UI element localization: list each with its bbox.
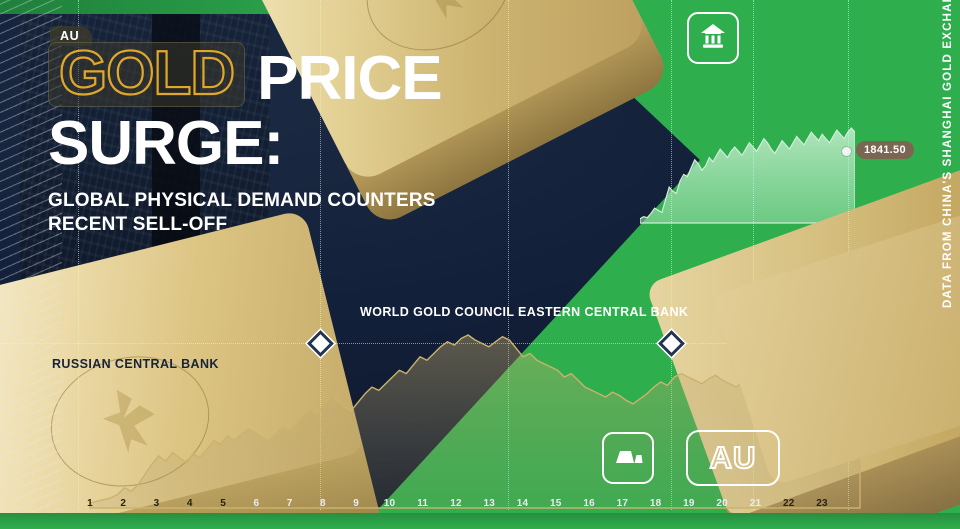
- x-axis-tick: 23: [816, 498, 828, 509]
- x-axis-tick: 10: [384, 498, 396, 509]
- x-axis-tick: 22: [783, 498, 795, 509]
- x-axis-tick: 3: [154, 498, 160, 509]
- headline-word-surge: SURGE:: [48, 113, 442, 175]
- x-axis-tick: 18: [650, 498, 662, 509]
- price-value-label: 1841.50: [856, 141, 914, 159]
- au-badge-label: AU: [710, 440, 757, 476]
- gold-bars-icon: [613, 445, 643, 472]
- x-axis-tick: 19: [683, 498, 695, 509]
- x-axis-tick: 15: [550, 498, 562, 509]
- price-marker-dot: [842, 147, 851, 156]
- source-note-vertical: DATA FROM CHINA'S SHANGHAI GOLD EXCHANGE: [942, 8, 954, 308]
- x-axis-tick: 8: [320, 498, 326, 509]
- x-axis-tick: 16: [583, 498, 595, 509]
- annotation-world-gold-council: WORLD GOLD COUNCIL EASTERN CENTRAL BANK: [360, 305, 688, 319]
- annotation-russian-central-bank: RUSSIAN CENTRAL BANK: [52, 357, 219, 371]
- headline-subtitle: GLOBAL PHYSICAL DEMAND COUNTERS RECENT S…: [48, 189, 442, 237]
- bank-building-icon: [699, 22, 727, 55]
- x-axis-tick: 17: [617, 498, 629, 509]
- green-band-shading: [0, 513, 960, 529]
- subtitle-line-2: RECENT SELL-OFF: [48, 213, 442, 237]
- x-axis-tick: 12: [450, 498, 462, 509]
- gold-word-panel: GOLD: [48, 42, 245, 107]
- subtitle-line-1: GLOBAL PHYSICAL DEMAND COUNTERS: [48, 189, 442, 213]
- x-axis-tick: 13: [484, 498, 496, 509]
- x-axis-labels: 1234567891011121314151617181920212223: [0, 498, 960, 514]
- gold-bars-badge[interactable]: [602, 432, 654, 484]
- x-axis-tick: 6: [253, 498, 259, 509]
- infographic-canvas: AU GOLD PRICE SURGE: GLOBAL PHYSICAL DEM…: [0, 0, 960, 529]
- x-axis-tick: 1: [87, 498, 93, 509]
- x-axis-tick: 11: [417, 498, 428, 509]
- headline-word-price: PRICE: [257, 50, 441, 107]
- x-axis-tick: 5: [220, 498, 226, 509]
- x-axis-tick: 9: [353, 498, 359, 509]
- headline-word-gold: GOLD: [59, 39, 234, 108]
- au-badge[interactable]: AU: [686, 430, 780, 486]
- x-axis-tick: 21: [750, 498, 762, 509]
- headline-block: AU GOLD PRICE SURGE: GLOBAL PHYSICAL DEM…: [48, 24, 442, 237]
- bank-badge[interactable]: [687, 12, 739, 64]
- x-axis-tick: 20: [716, 498, 728, 509]
- x-axis-tick: 14: [517, 498, 529, 509]
- x-axis-tick: 4: [187, 498, 193, 509]
- x-axis-tick: 2: [120, 498, 126, 509]
- x-axis-tick: 7: [287, 498, 293, 509]
